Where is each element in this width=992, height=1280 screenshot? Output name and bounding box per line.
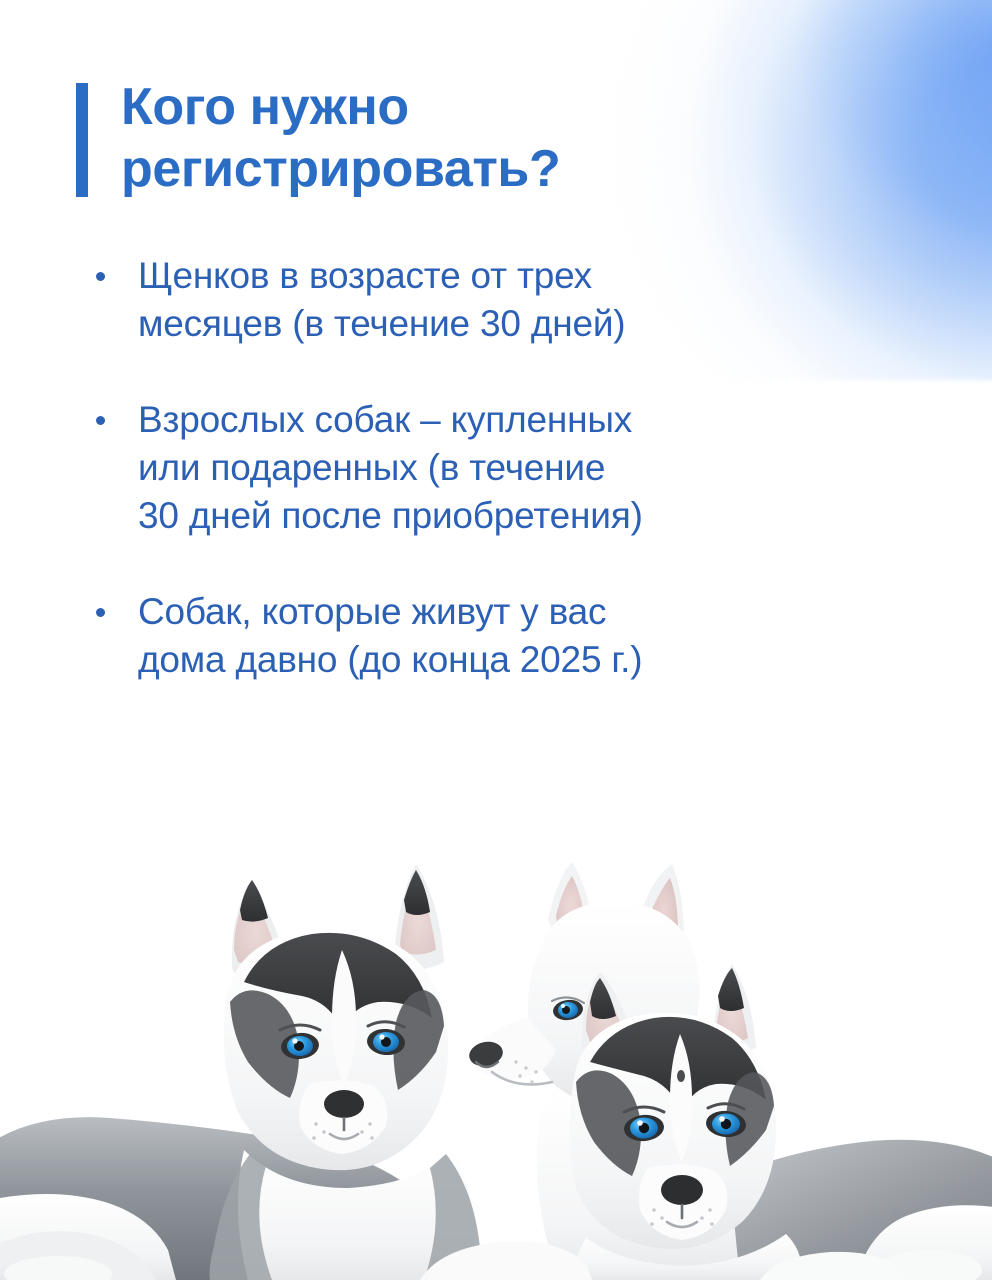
bullet-list: Щенков в возрасте от трех месяцев (в теч… (96, 252, 886, 684)
page-title: Кого нужно регистрировать? (121, 76, 560, 200)
page-title-block: Кого нужно регистрировать? (76, 76, 560, 200)
infographic-slide: Кого нужно регистрировать? Щенков в возр… (0, 0, 992, 1280)
husky-puppies-photo (0, 850, 992, 1280)
list-item-label: Щенков в возрасте от трех месяцев (в теч… (138, 252, 625, 348)
husky-puppies-illustration (0, 850, 992, 1280)
bullet-dot-icon (96, 608, 105, 617)
list-item: Собак, которые живут у вас дома давно (д… (96, 588, 886, 684)
list-item-label: Взрослых собак – купленных или подаренны… (138, 396, 643, 540)
title-accent-bar (76, 83, 88, 197)
bullet-dot-icon (96, 416, 105, 425)
list-item-label: Собак, которые живут у вас дома давно (д… (138, 588, 642, 684)
list-item: Взрослых собак – купленных или подаренны… (96, 396, 886, 540)
list-item: Щенков в возрасте от трех месяцев (в теч… (96, 252, 886, 348)
bullet-dot-icon (96, 272, 105, 281)
